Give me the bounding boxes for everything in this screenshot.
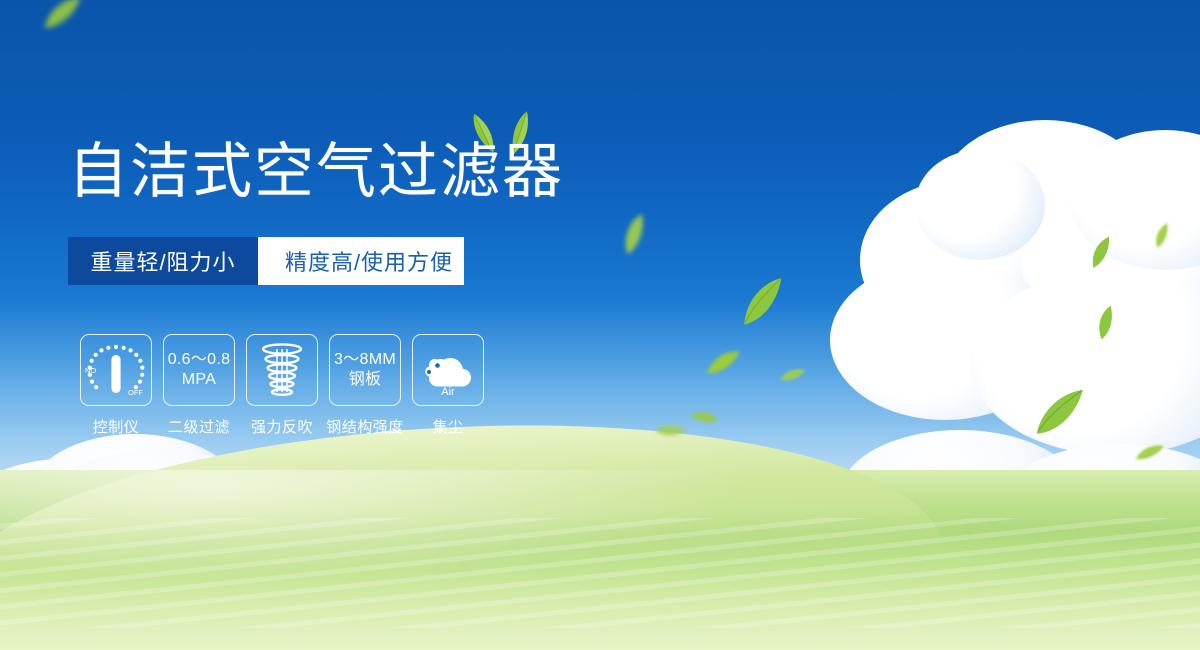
svg-text:OFF: OFF <box>128 388 143 397</box>
air-label: Air <box>441 386 455 398</box>
steel-plate-text-icon: 3～8MM 钢板 <box>329 334 401 406</box>
feature-item[interactable]: NO OFF 控制仪 <box>76 334 156 437</box>
feature-item[interactable]: Air 集尘 <box>408 334 488 437</box>
feature-label: 集尘 <box>432 416 463 437</box>
subtitle-bar: 重量轻/阻力小 精度高/使用方便 <box>68 237 464 285</box>
pressure-value-line1: 0.6～0.8 <box>168 350 231 370</box>
subtitle-right: 精度高/使用方便 <box>274 237 464 285</box>
gauge-dial-icon: NO OFF <box>80 334 152 406</box>
svg-text:NO: NO <box>85 366 96 375</box>
floating-leaf-icon <box>689 407 720 431</box>
feature-item[interactable]: 3～8MM 钢板 钢结构强度 <box>325 334 405 437</box>
pulse-rings-icon <box>246 334 318 406</box>
pressure-text-icon: 0.6～0.8 MPA <box>163 334 235 406</box>
cloud-right <box>820 120 1200 450</box>
air-cloud-icon: Air <box>412 334 484 406</box>
floating-leaf-icon <box>733 275 795 331</box>
floating-leaf-icon <box>1092 304 1122 342</box>
page-title: 自洁式空气过滤器 <box>68 142 564 202</box>
floating-leaf-icon <box>703 349 745 379</box>
feature-list: NO OFF 控制仪 0.6～0.8 MPA 二级过滤 <box>76 334 485 437</box>
floating-leaf-icon <box>1027 386 1095 441</box>
grass-field <box>0 470 1200 650</box>
pressure-value-line2: MPA <box>168 370 231 390</box>
feature-item[interactable]: 强力反吹 <box>242 334 322 437</box>
feature-item[interactable]: 0.6～0.8 MPA 二级过滤 <box>159 334 239 437</box>
steel-value-line2: 钢板 <box>334 370 396 390</box>
subtitle-left: 重量轻/阻力小 <box>68 237 258 285</box>
floating-leaf-icon <box>38 0 88 34</box>
feature-label: 强力反吹 <box>251 416 313 437</box>
feature-label: 二级过滤 <box>168 416 230 437</box>
floating-leaf-icon <box>1085 235 1119 271</box>
feature-label: 控制仪 <box>93 416 140 437</box>
floating-leaf-icon <box>1134 444 1166 463</box>
floating-leaf-icon <box>1151 222 1176 250</box>
floating-leaf-icon <box>779 368 806 384</box>
floating-leaf-icon <box>616 212 655 258</box>
grass-highlight <box>0 470 1200 650</box>
feature-label: 钢结构强度 <box>326 416 404 437</box>
steel-value-line1: 3～8MM <box>334 350 396 370</box>
promo-banner: 自洁式空气过滤器 重量轻/阻力小 精度高/使用方便 <box>0 0 1200 650</box>
